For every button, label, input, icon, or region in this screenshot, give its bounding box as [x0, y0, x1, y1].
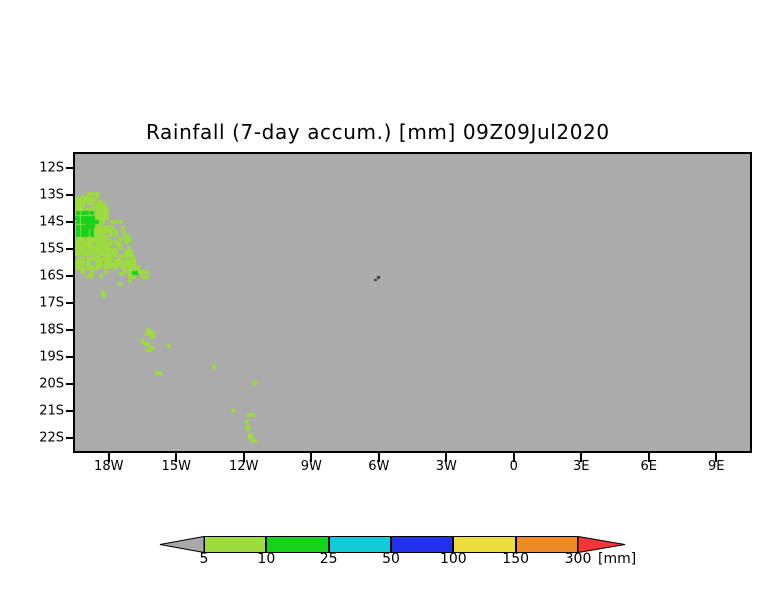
x-axis-tick	[445, 453, 447, 462]
y-axis-label-13s: 13S	[20, 187, 64, 202]
x-axis-tick	[243, 453, 245, 462]
colorbar-tick-10: 10	[257, 551, 275, 567]
y-axis-tick	[66, 167, 75, 169]
y-axis-label-21s: 21S	[20, 403, 64, 418]
x-axis-tick	[108, 453, 110, 462]
colorbar-band-2	[329, 536, 391, 553]
colorbar-high-arrow	[578, 537, 625, 553]
x-axis-tick	[513, 453, 515, 462]
x-axis-tick	[580, 453, 582, 462]
colorbar-band-5	[516, 536, 578, 553]
colorbar-band-3	[391, 536, 453, 553]
y-axis-label-18s: 18S	[20, 322, 64, 337]
colorbar-low-arrow	[160, 537, 204, 553]
y-axis-label-22s: 22S	[20, 430, 64, 445]
colorbar-band-4	[453, 536, 515, 553]
colorbar-band-0	[204, 536, 266, 553]
colorbar-tick-25: 25	[320, 551, 338, 567]
y-axis-tick	[66, 275, 75, 277]
colorbar-tick-100: 100	[440, 551, 467, 567]
rainfall-raster	[75, 154, 750, 451]
colorbar-tick-5: 5	[200, 551, 209, 567]
x-axis-tick	[648, 453, 650, 462]
y-axis-label-16s: 16S	[20, 268, 64, 283]
y-axis-tick	[66, 356, 75, 358]
x-axis-tick	[310, 453, 312, 462]
y-axis-label-15s: 15S	[20, 241, 64, 256]
x-axis-tick	[715, 453, 717, 462]
plot-area	[73, 152, 752, 453]
y-axis-label-12s: 12S	[20, 160, 64, 175]
colorbar-units-label: [mm]	[598, 551, 636, 567]
colorbar-tick-300: 300	[565, 551, 592, 567]
y-axis-tick	[66, 329, 75, 331]
x-axis-tick	[175, 453, 177, 462]
y-axis-tick	[66, 437, 75, 439]
y-axis-tick	[66, 383, 75, 385]
colorbar-band-1	[266, 536, 328, 553]
y-axis-label-20s: 20S	[20, 376, 64, 391]
colorbar-tick-150: 150	[502, 551, 529, 567]
rainfall-map-figure: Rainfall (7-day accum.) [mm] 09Z09Jul202…	[0, 0, 784, 612]
y-axis-tick	[66, 194, 75, 196]
y-axis-label-19s: 19S	[20, 349, 64, 364]
x-axis-tick	[378, 453, 380, 462]
y-axis-tick	[66, 302, 75, 304]
y-axis-label-14s: 14S	[20, 214, 64, 229]
y-axis-label-17s: 17S	[20, 295, 64, 310]
y-axis-tick	[66, 221, 75, 223]
y-axis-tick	[66, 248, 75, 250]
y-axis-tick	[66, 410, 75, 412]
colorbar-tick-50: 50	[382, 551, 400, 567]
page-title: Rainfall (7-day accum.) [mm] 09Z09Jul202…	[146, 120, 610, 144]
